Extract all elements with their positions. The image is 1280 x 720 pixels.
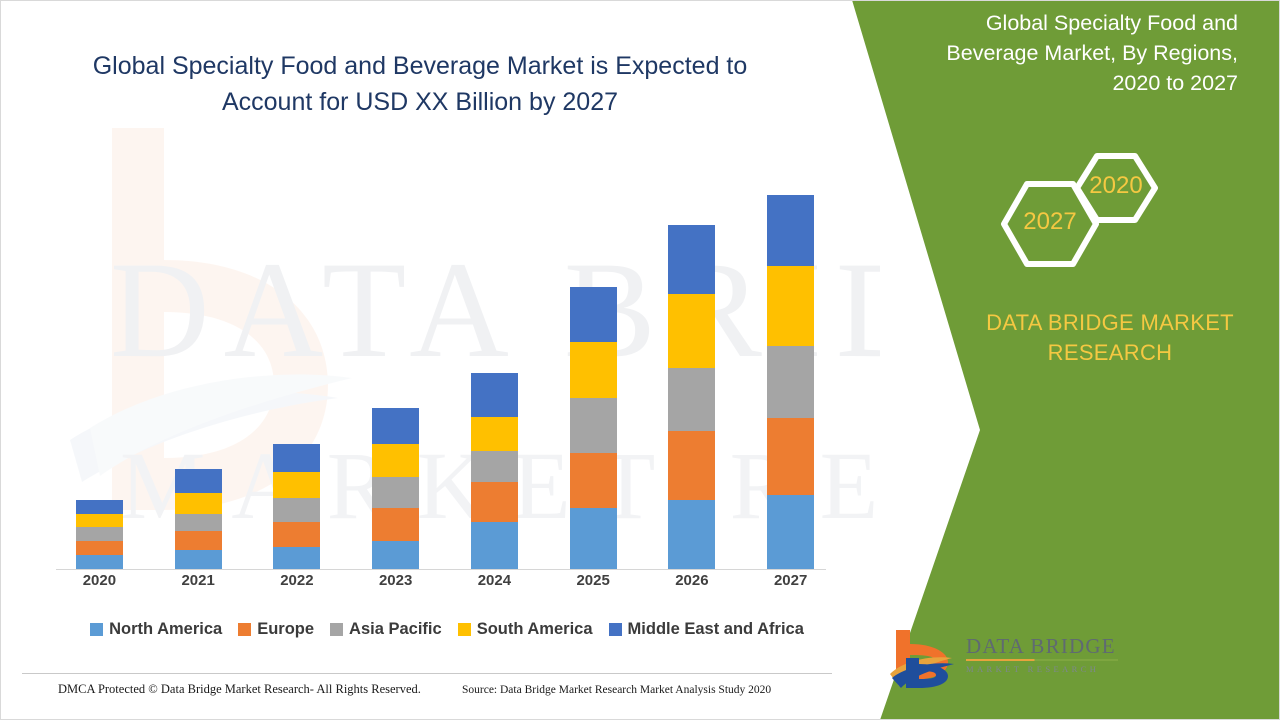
- bar-slot: [149, 169, 248, 569]
- chart-legend: North AmericaEuropeAsia PacificSouth Ame…: [52, 616, 842, 642]
- bar-segment[interactable]: [471, 417, 518, 452]
- stacked-bar[interactable]: [570, 287, 617, 569]
- bar-segment[interactable]: [570, 287, 617, 342]
- dmca-notice: DMCA Protected © Data Bridge Market Rese…: [58, 682, 421, 697]
- bar-segment[interactable]: [570, 398, 617, 453]
- stacked-bar[interactable]: [273, 444, 320, 569]
- bar-segment[interactable]: [175, 469, 222, 493]
- stacked-bar-chart: [50, 150, 840, 570]
- bar-segment[interactable]: [767, 495, 814, 569]
- logo-underline: [966, 659, 1118, 661]
- bar-slot: [741, 169, 840, 569]
- bar-segment[interactable]: [471, 451, 518, 482]
- bar-segment[interactable]: [273, 498, 320, 522]
- bar-slot: [643, 169, 742, 569]
- x-axis-label-2026: 2026: [643, 572, 742, 596]
- bar-segment[interactable]: [273, 472, 320, 498]
- data-bridge-logo: DATA BRIDGE MARKET RESEARCH: [888, 628, 1128, 694]
- bar-segment[interactable]: [76, 527, 123, 541]
- panel-brand-name: DATA BRIDGE MARKET RESEARCH: [960, 308, 1260, 368]
- bar-slot: [544, 169, 643, 569]
- legend-item[interactable]: North America: [90, 620, 222, 639]
- bar-segment[interactable]: [767, 346, 814, 419]
- bar-segment[interactable]: [175, 531, 222, 550]
- stacked-bar[interactable]: [175, 469, 222, 569]
- bar-segment[interactable]: [76, 514, 123, 528]
- bar-segment[interactable]: [175, 550, 222, 569]
- bar-segment[interactable]: [471, 522, 518, 569]
- logo-main-text: DATA BRIDGE: [966, 634, 1136, 658]
- panel-title: Global Specialty Food and Beverage Marke…: [918, 8, 1238, 98]
- legend-swatch-icon: [458, 623, 471, 636]
- bar-segment[interactable]: [570, 453, 617, 508]
- legend-label: South America: [477, 620, 593, 639]
- logo-sub-text: MARKET RESEARCH: [966, 664, 1136, 674]
- bar-segment[interactable]: [372, 541, 419, 569]
- bar-segment[interactable]: [471, 482, 518, 522]
- hexagon-badges: 2020 2027: [985, 150, 1185, 280]
- legend-item[interactable]: South America: [458, 620, 593, 639]
- bar-segment[interactable]: [372, 508, 419, 541]
- stacked-bar[interactable]: [372, 408, 419, 569]
- bar-slot: [248, 169, 347, 569]
- bar-segment[interactable]: [273, 547, 320, 569]
- infographic-root: DATA BRIDGE MARKET RESEARCH Global Speci…: [0, 0, 1280, 720]
- stacked-bar[interactable]: [471, 373, 518, 569]
- legend-swatch-icon: [330, 623, 343, 636]
- legend-label: Middle East and Africa: [628, 620, 804, 639]
- source-note: Source: Data Bridge Market Research Mark…: [462, 684, 771, 696]
- bar-segment[interactable]: [668, 500, 715, 569]
- logo-wordmark: DATA BRIDGE MARKET RESEARCH: [966, 634, 1136, 674]
- bar-segment[interactable]: [767, 418, 814, 494]
- bar-segment[interactable]: [76, 555, 123, 569]
- legend-swatch-icon: [609, 623, 622, 636]
- stacked-bar[interactable]: [76, 500, 123, 569]
- bar-segment[interactable]: [76, 541, 123, 555]
- legend-label: Asia Pacific: [349, 620, 442, 639]
- bar-slot: [346, 169, 445, 569]
- bar-segment[interactable]: [767, 195, 814, 266]
- legend-swatch-icon: [90, 623, 103, 636]
- bar-segment[interactable]: [175, 493, 222, 514]
- legend-item[interactable]: Asia Pacific: [330, 620, 442, 639]
- bar-segment[interactable]: [668, 294, 715, 368]
- legend-item[interactable]: Middle East and Africa: [609, 620, 804, 639]
- bar-segment[interactable]: [175, 514, 222, 531]
- bar-segment[interactable]: [273, 522, 320, 546]
- bar-segment[interactable]: [668, 431, 715, 500]
- x-axis-label-2020: 2020: [50, 572, 149, 596]
- bar-segment[interactable]: [767, 266, 814, 346]
- bar-group: [50, 169, 840, 569]
- x-axis-label-2027: 2027: [741, 572, 840, 596]
- bar-segment[interactable]: [372, 477, 419, 508]
- x-axis-label-2023: 2023: [346, 572, 445, 596]
- chart-title: Global Specialty Food and Beverage Marke…: [60, 48, 780, 120]
- x-axis-labels: 20202021202220232024202520262027: [50, 572, 840, 596]
- x-axis-label-2024: 2024: [445, 572, 544, 596]
- bar-segment[interactable]: [76, 500, 123, 514]
- hexagon-2027-label: 2027: [1004, 208, 1096, 236]
- bar-segment[interactable]: [372, 444, 419, 477]
- x-axis-line: [56, 569, 826, 570]
- legend-item[interactable]: Europe: [238, 620, 314, 639]
- legend-label: North America: [109, 620, 222, 639]
- bar-segment[interactable]: [570, 342, 617, 397]
- bar-slot: [445, 169, 544, 569]
- x-axis-label-2022: 2022: [248, 572, 347, 596]
- x-axis-label-2025: 2025: [544, 572, 643, 596]
- legend-swatch-icon: [238, 623, 251, 636]
- dbmr-logo-mark-icon: [888, 628, 958, 690]
- bar-segment[interactable]: [668, 368, 715, 430]
- bar-segment[interactable]: [372, 408, 419, 444]
- legend-label: Europe: [257, 620, 314, 639]
- footer-divider: [22, 673, 832, 674]
- bar-segment[interactable]: [668, 225, 715, 294]
- stacked-bar[interactable]: [767, 195, 814, 569]
- bar-segment[interactable]: [570, 508, 617, 569]
- stacked-bar[interactable]: [668, 225, 715, 569]
- x-axis-label-2021: 2021: [149, 572, 248, 596]
- hexagon-2020-label: 2020: [1077, 172, 1155, 200]
- bar-slot: [50, 169, 149, 569]
- bar-segment[interactable]: [471, 373, 518, 416]
- bar-segment[interactable]: [273, 444, 320, 472]
